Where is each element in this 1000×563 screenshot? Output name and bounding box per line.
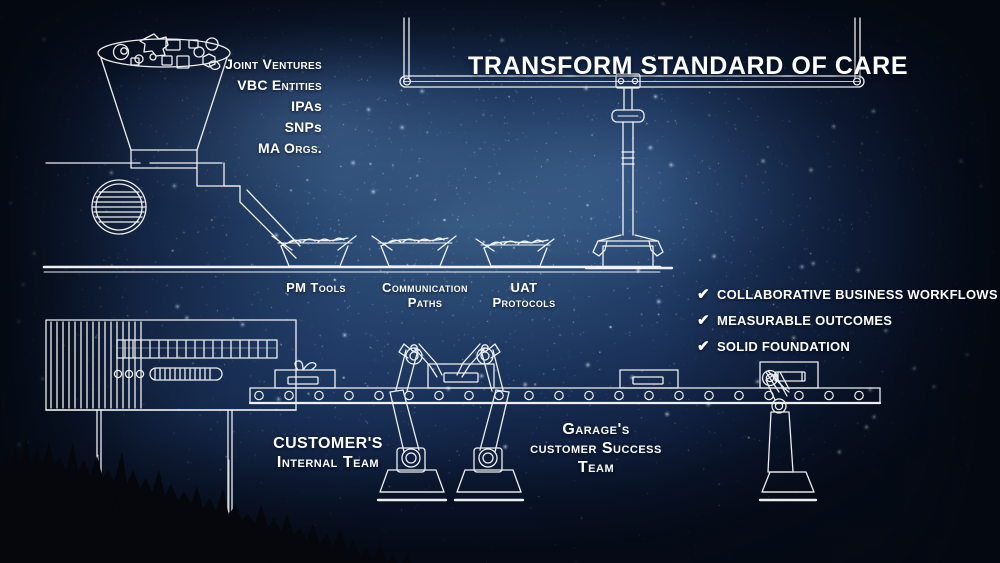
outcomes-checklist: ✔ COLLABORATIVE BUSINESS WORKFLOWS ✔ MEA…	[697, 287, 998, 365]
funnel-input-ipas: IPAs	[60, 98, 322, 114]
check-icon: ✔	[697, 287, 717, 302]
station-label-pm-tools: PM Tools	[276, 280, 356, 295]
check-icon: ✔	[697, 339, 717, 354]
station-label-line1: UAT	[480, 280, 568, 295]
checklist-label: SOLID FOUNDATION	[717, 339, 850, 354]
illustration-canvas: TRANSFORM STANDARD OF CARE Joint Venture…	[0, 0, 1000, 563]
checklist-label: COLLABORATIVE BUSINESS WORKFLOWS	[717, 287, 998, 302]
team-label-garage-success: Garage's customer Success Team	[524, 420, 668, 477]
checklist-item: ✔ SOLID FOUNDATION	[697, 339, 998, 354]
team-label-customer-internal: CUSTOMER'S Internal Team	[262, 434, 394, 472]
funnel-input-ma-orgs: MA Orgs.	[60, 140, 322, 156]
station-label-uat-protocols: UAT Protocols	[480, 280, 568, 310]
team-label-line1: CUSTOMER'S	[262, 434, 394, 453]
funnel-input-list: Joint Ventures VBC Entities IPAs SNPs MA…	[60, 56, 322, 161]
station-label-line1: Communication	[372, 280, 478, 295]
team-label-line2: customer Success	[524, 439, 668, 458]
team-label-line3: Team	[524, 458, 668, 477]
check-icon: ✔	[697, 313, 717, 328]
team-label-line2: Internal Team	[262, 453, 394, 472]
team-label-line1: Garage's	[524, 420, 668, 439]
funnel-input-vbc-entities: VBC Entities	[60, 77, 322, 93]
station-label-line2: Protocols	[480, 295, 568, 310]
checklist-item: ✔ MEASURABLE OUTCOMES	[697, 313, 998, 328]
station-label-communication-paths: Communication Paths	[372, 280, 478, 310]
checklist-label: MEASURABLE OUTCOMES	[717, 313, 892, 328]
funnel-input-joint-ventures: Joint Ventures	[60, 56, 322, 72]
page-title: TRANSFORM STANDARD OF CARE	[468, 52, 908, 81]
station-label-line2: Paths	[372, 295, 478, 310]
checklist-item: ✔ COLLABORATIVE BUSINESS WORKFLOWS	[697, 287, 998, 302]
funnel-input-snps: SNPs	[60, 119, 322, 135]
